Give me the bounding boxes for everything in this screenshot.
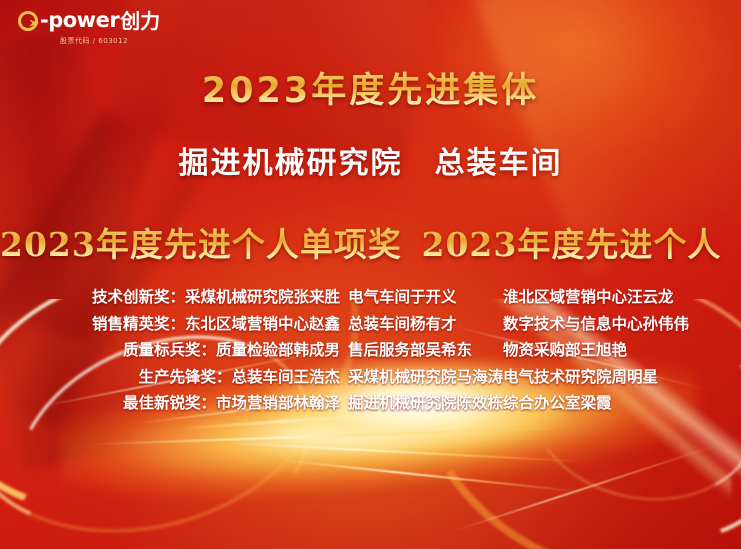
award-recipient: 东北区域营销中心赵鑫: [185, 311, 340, 338]
award-separator: ：: [169, 284, 185, 311]
award-separator: ：: [169, 311, 185, 338]
award-title: 最佳新锐奖: [123, 390, 201, 417]
list-item: 质量标兵奖 ： 质量检验部韩成男: [48, 337, 340, 364]
e-power-logo-mark-icon: [18, 11, 38, 31]
list-item: 技术创新奖 ： 采煤机械研究院张来胜: [48, 284, 340, 311]
winner-lists: 技术创新奖 ： 采煤机械研究院张来胜 销售精英奖 ： 东北区域营销中心赵鑫 质量…: [0, 284, 741, 417]
award-separator: ：: [200, 390, 216, 417]
list-item: 数字技术与信息中心孙伟伟: [503, 311, 741, 338]
list-item: 采煤机械研究院马海涛: [348, 364, 503, 391]
page-title: 2023年度先进集体: [0, 62, 741, 113]
individual-column-a: 电气车间于开义 总装车间杨有才 售后服务部吴希东 采煤机械研究院马海涛 掘进机械…: [348, 284, 503, 417]
list-item: 最佳新锐奖 ： 市场营销部林翰泽: [48, 390, 340, 417]
section-headers: 2023年度先进个人单项奖 2023年度先进个人: [0, 218, 741, 266]
award-title: 销售精英奖: [92, 311, 170, 338]
list-item: 电气技术研究院周明星: [503, 364, 741, 391]
list-item: 生产先锋奖 ： 总装车间王浩杰: [48, 364, 340, 391]
award-title: 质量标兵奖: [123, 337, 201, 364]
list-item: 销售精英奖 ： 东北区域营销中心赵鑫: [48, 311, 340, 338]
award-title: 生产先锋奖: [138, 364, 216, 391]
section-header-advanced-individuals: 2023年度先进个人: [402, 218, 741, 266]
stock-code-label: 股票代码 / 603012: [60, 36, 128, 46]
list-item: 总装车间杨有才: [348, 311, 503, 338]
list-item: 综合办公室梁霞: [503, 390, 741, 417]
collective-winners-subtitle: 掘进机械研究院 总装车间: [0, 138, 741, 182]
award-separator: ：: [200, 337, 216, 364]
section-header-single-awards: 2023年度先进个人单项奖: [0, 218, 402, 266]
award-recipient: 质量检验部韩成男: [216, 337, 340, 364]
logo-wordmark: -power: [40, 10, 119, 31]
award-recipient: 市场营销部林翰泽: [216, 390, 340, 417]
single-award-list: 技术创新奖 ： 采煤机械研究院张来胜 销售精英奖 ： 东北区域营销中心赵鑫 质量…: [0, 284, 340, 417]
award-title: 技术创新奖: [92, 284, 170, 311]
award-recipient: 总装车间王浩杰: [231, 364, 340, 391]
advanced-individual-list: 电气车间于开义 总装车间杨有才 售后服务部吴希东 采煤机械研究院马海涛 掘进机械…: [340, 284, 741, 417]
list-item: 售后服务部吴希东: [348, 337, 503, 364]
list-item: 物资采购部王旭艳: [503, 337, 741, 364]
award-poster: -power 创力 股票代码 / 603012 2023年度先进集体 掘进机械研…: [0, 0, 741, 549]
award-separator: ：: [216, 364, 232, 391]
award-recipient: 采煤机械研究院张来胜: [185, 284, 340, 311]
logo-row: -power 创力: [18, 10, 160, 31]
list-item: 电气车间于开义: [348, 284, 503, 311]
logo-wordmark-cn: 创力: [120, 11, 160, 31]
company-logo: -power 创力 股票代码 / 603012: [18, 10, 160, 46]
list-item: 掘进机械研究院陈效栋: [348, 390, 503, 417]
list-item: 淮北区域营销中心汪云龙: [503, 284, 741, 311]
individual-column-b: 淮北区域营销中心汪云龙 数字技术与信息中心孙伟伟 物资采购部王旭艳 电气技术研究…: [503, 284, 741, 417]
